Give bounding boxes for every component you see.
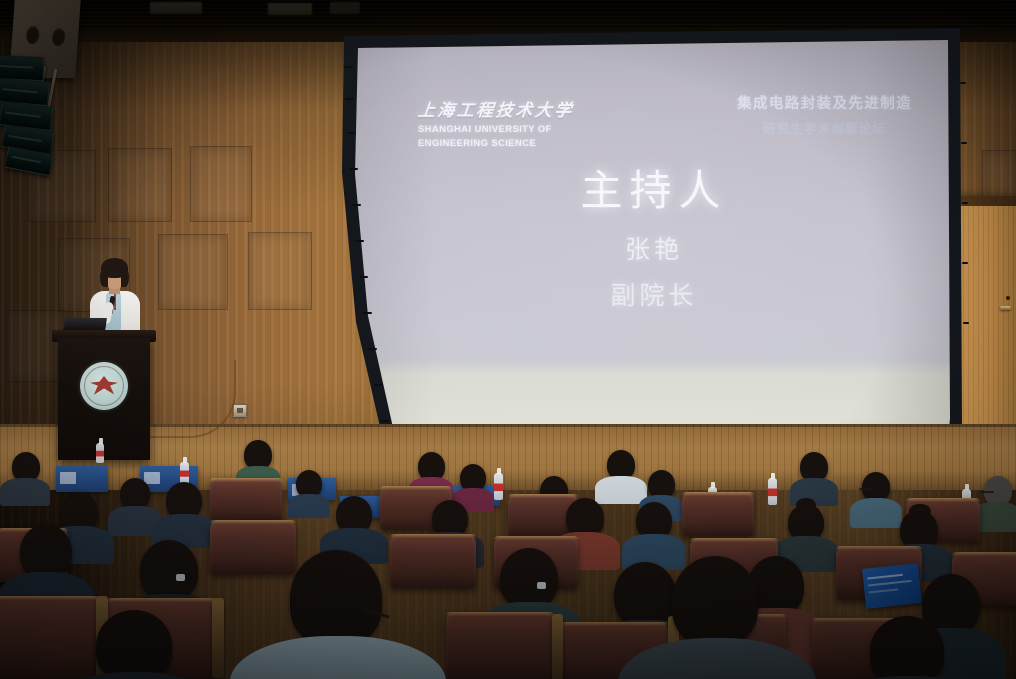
lectern [58, 338, 150, 460]
auditorium-seat [0, 596, 100, 679]
presenter-glasses [105, 273, 124, 278]
water-bottle [494, 473, 503, 500]
screen-tension-hooks [336, 22, 406, 462]
screen-hook [345, 98, 354, 100]
person-shoulders [850, 498, 902, 528]
water-bottle [768, 478, 777, 505]
booklet-line [868, 588, 898, 593]
booklet-line [867, 574, 903, 580]
emblem-bird-icon [90, 376, 118, 396]
auditorium-seat [682, 492, 754, 536]
person-shoulders [0, 478, 50, 506]
hair-bun [796, 498, 816, 512]
bracket-hole [26, 26, 40, 44]
speaker-grille-rib [8, 135, 42, 142]
speaker-grille-rib [0, 65, 33, 69]
auditorium-seat [210, 478, 282, 522]
screen-hook [359, 276, 368, 278]
speaker-grille-rib [2, 88, 38, 93]
screen-hook [349, 168, 358, 170]
screen-hook [962, 262, 968, 264]
screen-hook [962, 202, 968, 204]
auditorium-seat [446, 612, 554, 679]
screen-hook [963, 322, 969, 324]
table-name-card [144, 472, 160, 484]
door-lock-icon [1006, 296, 1010, 300]
screen-hook [374, 384, 383, 386]
projection-screen: 上海工程技术大学 SHANGHAI UNIVERSITY OF ENGINEER… [336, 22, 968, 462]
front-table [56, 466, 108, 492]
speaker-grille-rib [11, 156, 41, 164]
booklet-line [868, 580, 912, 587]
screen-hook [347, 132, 356, 134]
hair-clip [537, 582, 546, 589]
ceiling-speaker-array [0, 0, 118, 180]
eyeglasses [859, 488, 873, 490]
screen-hook [352, 204, 361, 206]
bracket-hole [52, 28, 66, 46]
screen-hook [363, 312, 372, 314]
auditorium-seat [390, 534, 476, 588]
person-head [614, 562, 676, 628]
person-head [96, 610, 172, 679]
screen-hook [960, 82, 966, 84]
seat-armrest [212, 598, 224, 678]
water-bottle [180, 462, 189, 484]
conference-booklet [862, 563, 922, 609]
person-head [672, 556, 758, 646]
hair-bun [909, 504, 931, 518]
wall-power-outlet [233, 404, 247, 417]
screen-hook [380, 420, 389, 422]
screen-hook [961, 142, 967, 144]
water-bottle [96, 443, 104, 463]
hair-clip [176, 574, 185, 581]
table-name-card [60, 472, 76, 484]
speaker-cabinet [0, 55, 45, 82]
eyeglasses [980, 491, 994, 493]
door-handle[interactable] [1000, 306, 1011, 310]
person-shoulders [288, 494, 330, 518]
person-shoulders [595, 476, 647, 504]
university-emblem [80, 362, 128, 410]
seat-armrest [552, 614, 563, 679]
screen-hook [355, 240, 364, 242]
auditorium-photo: 上海工程技术大学 SHANGHAI UNIVERSITY OF ENGINEER… [0, 0, 1016, 679]
screen-hook [368, 348, 377, 350]
auditorium-seat [210, 520, 296, 574]
screen-lighting-falloff [336, 22, 968, 462]
speaker-grille-rib [5, 111, 41, 117]
person-head [140, 540, 198, 602]
person-head [870, 616, 944, 679]
person-head [500, 548, 558, 610]
person-head [290, 550, 382, 646]
screen-hook [344, 66, 353, 68]
